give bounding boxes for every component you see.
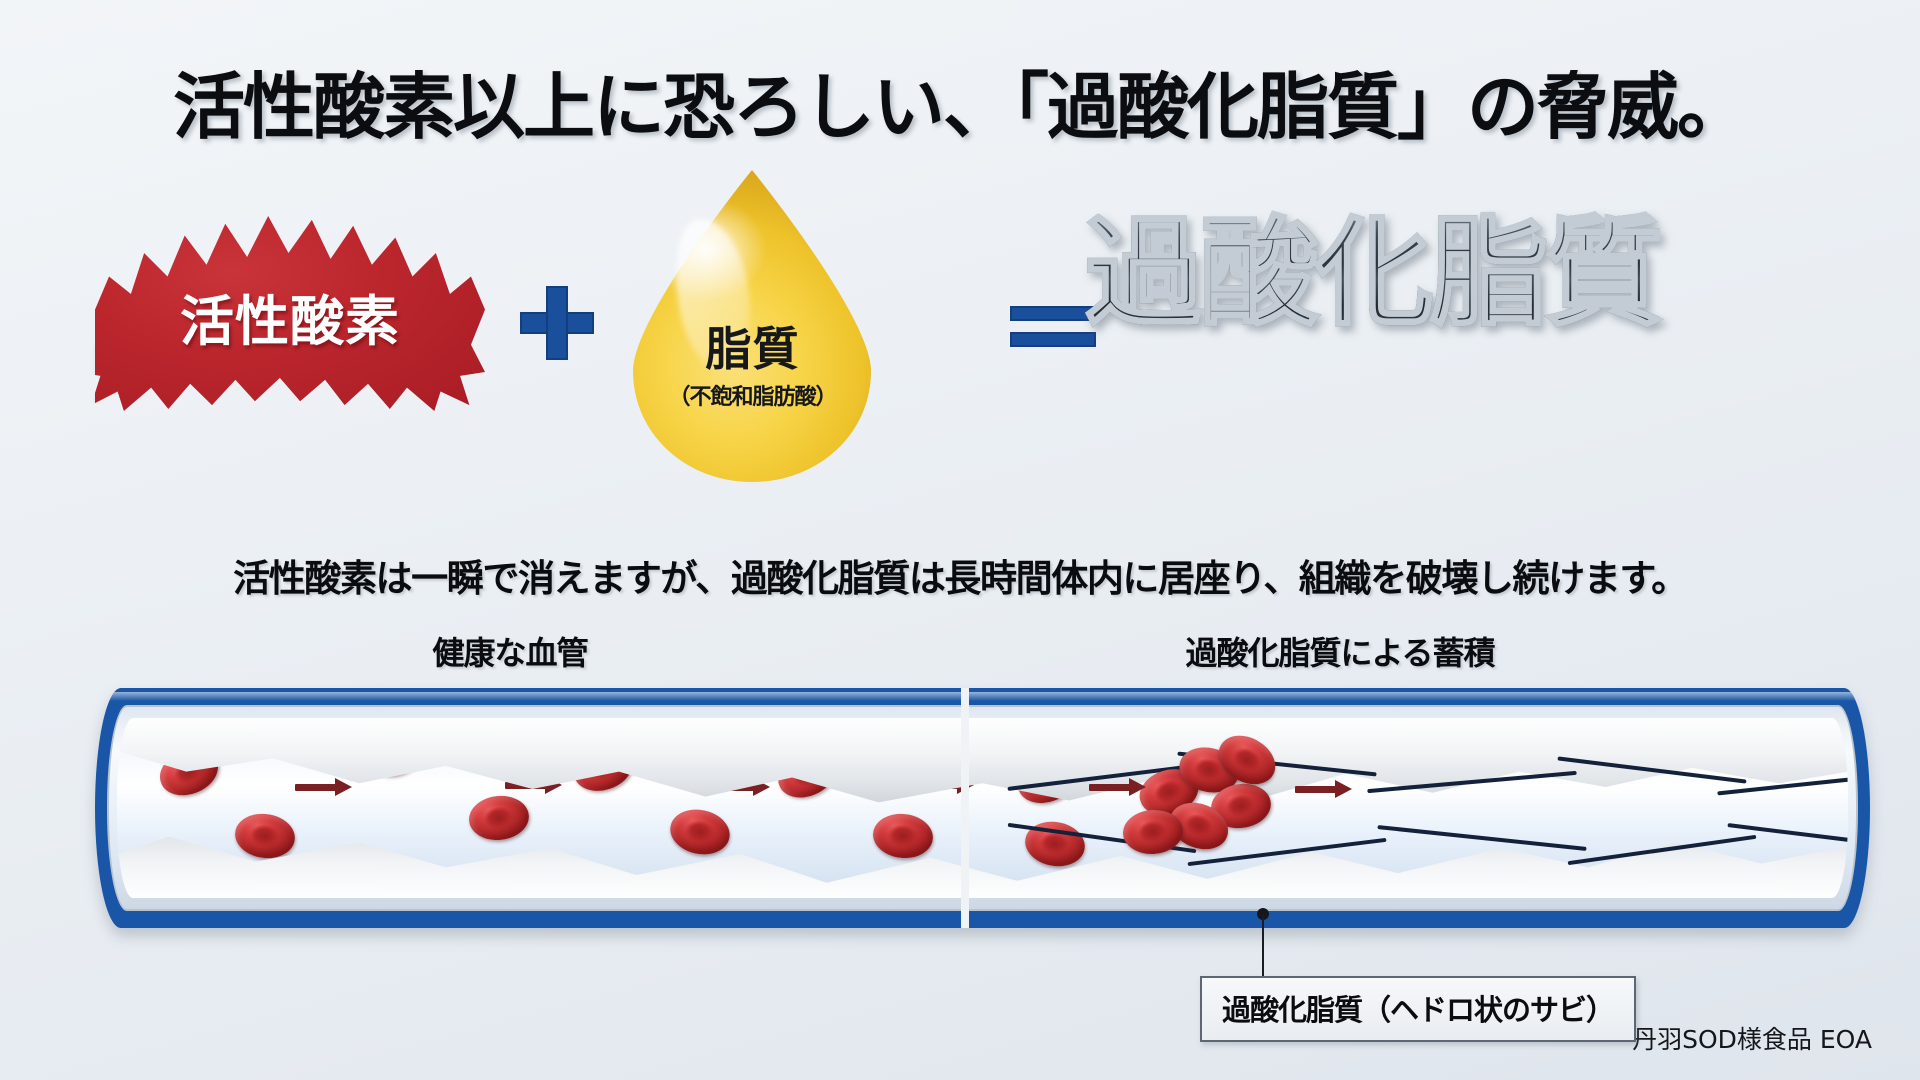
- lipid-sublabel: （不飽和脂肪酸）: [625, 379, 880, 411]
- page-title: 活性酸素以上に恐ろしい、「過酸化脂質」の脅威。: [0, 48, 1920, 153]
- plaque-callout-text: 過酸化脂質（ヘドロ状のサビ）: [1222, 993, 1614, 1027]
- plaque-crack: [1377, 825, 1586, 851]
- plaque-deposit-top: [117, 718, 1848, 812]
- equation-row: 活性酸素 脂質 （不飽和脂肪酸） 過酸化脂質: [0, 178, 1920, 468]
- equals-sign-icon: [1010, 306, 1096, 346]
- section-divider: [961, 688, 969, 928]
- healthy-vessel-label: 健康な血管: [300, 628, 720, 674]
- explanatory-text: 活性酸素は一瞬で消えますが、過酸化脂質は長時間体内に居座り、組織を破壊し続けます…: [0, 548, 1920, 602]
- blood-vessel: [95, 688, 1870, 928]
- plus-sign-icon: [520, 286, 594, 360]
- brand-footer: 丹羽SOD様食品 EOA: [1632, 1020, 1872, 1056]
- reactive-oxygen-label: 活性酸素: [95, 216, 485, 411]
- plaque-callout-box: 過酸化脂質（ヘドロ状のサビ）: [1200, 976, 1636, 1042]
- lipid-drop: 脂質 （不飽和脂肪酸）: [625, 166, 880, 486]
- red-blood-cell: [232, 810, 298, 862]
- lipid-drop-text: 脂質 （不飽和脂肪酸）: [625, 326, 880, 411]
- red-blood-cell: [666, 804, 734, 860]
- red-blood-cell: [871, 811, 935, 861]
- red-blood-cell: [467, 793, 531, 843]
- plaque-buildup-label: 過酸化脂質による蓄積: [1080, 628, 1600, 674]
- vessel-lumen: [117, 718, 1848, 898]
- plaque-deposit-bottom: [117, 804, 1848, 898]
- lipid-label: 脂質: [625, 326, 880, 372]
- vessel-diagram: 健康な血管 過酸化脂質による蓄積 過酸化脂質（ヘドロ状のサビ）: [0, 628, 1920, 958]
- callout-leader-line: [1262, 914, 1264, 976]
- reactive-oxygen-badge: 活性酸素: [95, 216, 485, 411]
- lipid-peroxide-result: 過酸化脂質: [1085, 214, 1660, 332]
- vessel-wall-highlight: [95, 692, 1870, 701]
- infographic-canvas: 活性酸素以上に恐ろしい、「過酸化脂質」の脅威。 活性酸素 脂質 （不飽和脂肪酸）…: [0, 0, 1920, 1080]
